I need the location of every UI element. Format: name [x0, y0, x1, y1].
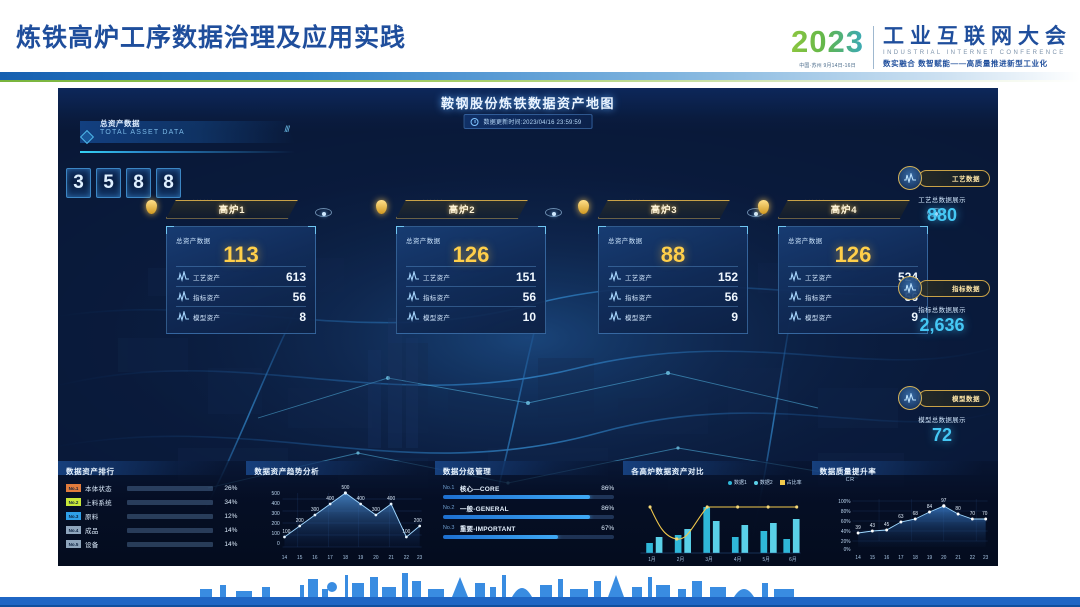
card-row: 指标资产 56	[608, 286, 738, 306]
wave-icon	[788, 271, 802, 282]
side-metric-badge-label: 指标数据	[952, 283, 980, 293]
card-row: 指标资产 56	[406, 286, 536, 306]
card-row-value: 56	[293, 290, 306, 304]
furnace-group-2[interactable]: ······ 高炉2 总资产数据 126 工艺资产 151 指标资产 56	[396, 198, 546, 334]
card-row-value: 10	[523, 310, 536, 324]
svg-text:18: 18	[343, 555, 349, 561]
panel-header: 数据资产排行	[66, 466, 237, 479]
update-stamp: 数据更新时间:2023/04/16 23:59:59	[464, 114, 593, 129]
panel-title: 数据分级管理	[443, 466, 614, 477]
side-metric-value: 880	[894, 205, 990, 226]
dots-decoration-icon: ······	[805, 197, 826, 203]
svg-text:80: 80	[955, 506, 961, 512]
rank-percent: 14%	[213, 527, 237, 534]
side-metric-caption: 指标总数据展示	[894, 304, 990, 314]
card-row: 模型资产 10	[406, 306, 536, 326]
furnace-group-1[interactable]: ······ 高炉1 总资产数据 113 工艺资产 613 指标资产 56	[166, 198, 316, 334]
quality-chart: 100%80%60% 40%20%0% 394345	[820, 481, 991, 565]
furnace-name-plate: ······ 高炉1	[166, 200, 298, 219]
logo-year: 2023	[791, 26, 864, 57]
svg-text:300: 300	[372, 507, 380, 513]
svg-text:21: 21	[955, 555, 961, 561]
svg-text:16: 16	[313, 555, 319, 561]
rank-row: No.3 原料 12%	[66, 509, 237, 523]
grade-row: No.2 一般-GENERAL 86%	[443, 503, 614, 513]
side-metric-pill: 模型数据	[918, 390, 990, 407]
furnace-group-3[interactable]: ······ 高炉3 总资产数据 88 工艺资产 152 指标资产 56	[598, 198, 748, 334]
rank-row: No.4 成品 14%	[66, 523, 237, 537]
grade-track	[443, 515, 614, 519]
svg-text:80%: 80%	[841, 509, 851, 515]
panel-grade-management: 数据分级管理 No.1 核心—CORE 86% No.2 一般-GENERAL …	[435, 461, 621, 566]
furnace-card-2: 总资产数据 126 工艺资产 151 指标资产 56 模型资产 10	[396, 226, 546, 334]
side-metric-badge: 工艺数据	[894, 166, 990, 190]
svg-text:200: 200	[414, 518, 422, 524]
svg-text:21: 21	[389, 555, 395, 561]
wave-icon	[608, 291, 622, 302]
page-title: 炼铁高炉工序数据治理及应用实践	[16, 18, 406, 54]
svg-text:100: 100	[403, 529, 411, 535]
grade-item: No.2 一般-GENERAL 86%	[443, 503, 614, 519]
grade-item: No.1 核心—CORE 86%	[443, 483, 614, 499]
counter-digit: 8	[126, 168, 151, 198]
rank-label: 本体状态	[85, 483, 127, 493]
svg-text:14: 14	[282, 555, 288, 561]
total-asset-header: 总资产数据 TOTAL ASSET DATA ///	[80, 118, 295, 146]
total-asset-counter: 3 5 8 8	[66, 168, 181, 198]
panel-title: 数据资产趋势分析	[254, 466, 425, 477]
card-row-label: 工艺资产	[423, 272, 450, 282]
wave-icon	[176, 291, 190, 302]
counter-digit: 5	[96, 168, 121, 198]
side-metric-model[interactable]: 模型数据 模型总数据展示 72	[894, 386, 990, 446]
grade-label: 重要-IMPORTANT	[460, 523, 516, 533]
diamond-icon	[80, 130, 94, 144]
update-stamp-text: 数据更新时间:2023/04/16 23:59:59	[484, 117, 582, 126]
side-metric-badge-label: 模型数据	[952, 393, 980, 403]
svg-text:20: 20	[374, 555, 380, 561]
furnace-name: 高炉1	[219, 202, 246, 216]
rank-percent: 12%	[213, 513, 237, 520]
side-metric-badge-label: 工艺数据	[952, 173, 980, 183]
svg-text:500: 500	[342, 485, 350, 491]
dots-decoration-icon: ······	[625, 197, 646, 203]
side-metric-caption: 工艺总数据展示	[894, 194, 990, 204]
rank-percent: 34%	[213, 499, 237, 506]
dashboard-title: 鞍钢股份炼铁数据资产地图	[58, 93, 998, 112]
logo-year-group: 2023 中国·苏州 9月14日-16日	[791, 26, 873, 69]
furnace-name: 高炉4	[831, 202, 858, 216]
furnace-tag-2[interactable]: ······ 高炉2	[396, 198, 546, 220]
card-row: 工艺资产 152	[608, 266, 738, 286]
panel-title: 数据资产排行	[66, 466, 237, 477]
comparison-chart: 1月2月3月 4月5月6月	[631, 481, 802, 565]
card-row-label: 模型资产	[625, 312, 652, 322]
grade-rank: No.2	[443, 505, 460, 511]
panel-trend-analysis: 数据资产趋势分析	[246, 461, 432, 566]
card-row: 模型资产 8	[176, 306, 306, 326]
svg-text:200: 200	[296, 518, 304, 524]
side-metric-caption: 模型总数据展示	[894, 414, 990, 424]
furnace-name-plate: ······ 高炉2	[396, 200, 528, 219]
card-row-value: 8	[299, 310, 306, 324]
card-total-value: 113	[176, 243, 306, 266]
card-row-label: 工艺资产	[805, 272, 832, 282]
side-metric-process[interactable]: 工艺数据 工艺总数据展示 880	[894, 166, 990, 226]
side-metric-badge: 指标数据	[894, 276, 990, 300]
grade-percent: 86%	[601, 505, 614, 512]
dots-decoration-icon: ······	[423, 197, 444, 203]
svg-text:0: 0	[277, 541, 280, 547]
panel-header: 数据分级管理	[443, 466, 614, 479]
svg-text:400: 400	[272, 501, 280, 507]
slide-root: 炼铁高炉工序数据治理及应用实践 2023 中国·苏州 9月14日-16日 工业互…	[0, 0, 1080, 607]
counter-digit: 3	[66, 168, 91, 198]
wave-circle-icon	[898, 386, 922, 410]
grade-rank: No.1	[443, 485, 460, 491]
side-metric-pill: 工艺数据	[918, 170, 990, 187]
total-asset-label-cn: 总资产数据	[100, 118, 140, 129]
grade-row: No.3 重要-IMPORTANT 67%	[443, 523, 614, 533]
svg-text:500: 500	[272, 491, 280, 497]
rank-row: No.5 设备 14%	[66, 537, 237, 551]
comparison-chart-svg: 1月2月3月 4月5月6月	[631, 481, 802, 565]
grade-fill	[443, 495, 590, 499]
svg-text:63: 63	[898, 514, 904, 520]
furnace-tag-1[interactable]: ······ 高炉1	[166, 198, 316, 220]
svg-text:23: 23	[983, 555, 989, 561]
card-row-label: 指标资产	[805, 292, 832, 302]
furnace-name-plate: ······ 高炉3	[598, 200, 730, 219]
furnace-name: 高炉2	[449, 202, 476, 216]
grade-fill	[443, 535, 558, 539]
svg-text:40%: 40%	[841, 529, 851, 535]
wave-icon	[608, 271, 622, 282]
furnace-tag-3[interactable]: ······ 高炉3	[598, 198, 748, 220]
svg-text:60%: 60%	[841, 519, 851, 525]
rank-track	[127, 528, 213, 533]
total-asset-banner: 总资产数据 TOTAL ASSET DATA ///	[80, 118, 295, 146]
rank-track	[127, 486, 213, 491]
panel-quality-improvement: 数据质量提升率 CR	[812, 461, 998, 566]
card-row-label: 指标资产	[625, 292, 652, 302]
card-total-value: 126	[788, 243, 918, 266]
wave-icon	[406, 311, 420, 322]
svg-text:16: 16	[884, 555, 890, 561]
svg-text:400: 400	[357, 496, 365, 502]
trend-chart: 500400300 2001000 100200300	[254, 481, 425, 565]
wave-circle-icon	[898, 276, 922, 300]
city-skyline-decoration	[0, 563, 1080, 607]
grade-percent: 67%	[601, 525, 614, 532]
rank-row: No.2 上料系统 34%	[66, 495, 237, 509]
svg-text:39: 39	[855, 525, 861, 531]
pulse-ring-icon	[545, 208, 562, 217]
svg-text:200: 200	[272, 521, 280, 527]
header-rule-green	[0, 80, 1080, 82]
slash-decoration-icon: ///	[284, 124, 289, 134]
panel-asset-ranking: 数据资产排行 No.1 本体状态 26% No.2 上料系统 34% No.3 …	[58, 461, 244, 566]
total-asset-underline	[80, 151, 295, 153]
svg-text:19: 19	[358, 555, 364, 561]
card-row-label: 指标资产	[193, 292, 220, 302]
card-row: 工艺资产 613	[176, 266, 306, 286]
logo-divider	[873, 26, 874, 69]
rank-badge: No.2	[66, 498, 81, 506]
svg-text:14: 14	[855, 555, 861, 561]
grade-track	[443, 495, 614, 499]
wave-icon	[406, 291, 420, 302]
conference-logo: 2023 中国·苏州 9月14日-16日 工业互联网大会 INDUSTRIAL …	[791, 26, 1072, 69]
side-metric-badge: 模型数据	[894, 386, 990, 410]
card-row-value: 152	[718, 270, 738, 284]
svg-text:0%: 0%	[843, 547, 851, 553]
furnace-name: 高炉3	[651, 202, 678, 216]
svg-text:17: 17	[328, 555, 334, 561]
side-metric-indicator[interactable]: 指标数据 指标总数据展示 2,636	[894, 276, 990, 336]
svg-text:300: 300	[311, 507, 319, 513]
rank-label: 原料	[85, 511, 127, 521]
card-row-value: 613	[286, 270, 306, 284]
header-rule-blue	[0, 72, 1080, 80]
grade-fill	[443, 515, 590, 519]
grade-item: No.3 重要-IMPORTANT 67%	[443, 523, 614, 539]
logo-slogan: 数实融合 数智赋能——高质量推进新型工业化	[883, 58, 1072, 69]
total-asset-label-en: TOTAL ASSET DATA	[100, 129, 185, 136]
card-row-value: 151	[516, 270, 536, 284]
rank-percent: 14%	[213, 541, 237, 548]
quality-chart-svg: 100%80%60% 40%20%0% 394345	[820, 481, 991, 565]
grade-label: 核心—CORE	[460, 483, 500, 493]
svg-text:18: 18	[912, 555, 918, 561]
refresh-icon[interactable]	[471, 118, 479, 126]
side-metric-pill: 指标数据	[918, 280, 990, 297]
svg-text:300: 300	[272, 511, 280, 517]
card-row-value: 9	[731, 310, 738, 324]
card-row-value: 56	[523, 290, 536, 304]
bottom-panel-row: 数据资产排行 No.1 本体状态 26% No.2 上料系统 34% No.3 …	[58, 461, 998, 566]
wave-icon	[788, 291, 802, 302]
svg-text:20: 20	[941, 555, 947, 561]
svg-text:19: 19	[926, 555, 932, 561]
panel-header: 数据资产趋势分析	[254, 466, 425, 479]
grade-track	[443, 535, 614, 539]
svg-text:15: 15	[297, 555, 303, 561]
svg-text:68: 68	[912, 511, 918, 517]
svg-text:70: 70	[982, 511, 988, 517]
logo-name-en: INDUSTRIAL INTERNET CONFERENCE	[883, 50, 1072, 56]
svg-text:100: 100	[272, 531, 280, 537]
wave-icon	[788, 311, 802, 322]
svg-text:15: 15	[869, 555, 875, 561]
logo-year-subtitle: 中国·苏州 9月14日-16日	[799, 62, 856, 69]
grade-rank: No.3	[443, 525, 460, 531]
panel-title: 数据质量提升率	[820, 466, 991, 477]
rank-track	[127, 542, 213, 547]
svg-text:100%: 100%	[838, 499, 851, 505]
rank-track	[127, 514, 213, 519]
svg-text:22: 22	[969, 555, 975, 561]
furnace-name-plate: ······ 高炉4	[778, 200, 910, 219]
card-row: 工艺资产 151	[406, 266, 536, 286]
side-metric-value: 2,636	[894, 315, 990, 336]
panel-header: 各高炉数据资产对比	[631, 466, 802, 479]
grade-percent: 86%	[601, 485, 614, 492]
card-row-value: 56	[725, 290, 738, 304]
svg-text:43: 43	[869, 523, 875, 529]
rank-percent: 26%	[213, 485, 237, 492]
header-rule	[0, 72, 1080, 84]
svg-text:400: 400	[327, 496, 335, 502]
svg-text:45: 45	[884, 522, 890, 528]
furnace-card-1: 总资产数据 113 工艺资产 613 指标资产 56 模型资产 8	[166, 226, 316, 334]
card-row-label: 模型资产	[805, 312, 832, 322]
card-row-label: 指标资产	[423, 292, 450, 302]
svg-text:100: 100	[283, 529, 291, 535]
card-total-value: 126	[406, 243, 536, 266]
rank-badge: No.5	[66, 540, 81, 548]
panel-title: 各高炉数据资产对比	[631, 466, 802, 477]
pulse-ring-icon	[315, 208, 332, 217]
card-total-value: 88	[608, 243, 738, 266]
wave-icon	[176, 311, 190, 322]
card-row-label: 工艺资产	[193, 272, 220, 282]
side-metric-value: 72	[894, 425, 990, 446]
trend-chart-svg: 500400300 2001000 100200300	[254, 481, 425, 565]
svg-text:17: 17	[898, 555, 904, 561]
rank-track	[127, 500, 213, 505]
svg-text:70: 70	[969, 511, 975, 517]
rank-badge: No.4	[66, 526, 81, 534]
card-row-label: 模型资产	[423, 312, 450, 322]
rank-badge: No.3	[66, 512, 81, 520]
svg-text:22: 22	[404, 555, 410, 561]
rank-badge: No.1	[66, 484, 81, 492]
logo-text-group: 工业互联网大会 INDUSTRIAL INTERNET CONFERENCE 数…	[883, 26, 1072, 69]
rank-row: No.1 本体状态 26%	[66, 481, 237, 495]
wave-icon	[176, 271, 190, 282]
card-row-label: 工艺资产	[625, 272, 652, 282]
grade-label: 一般-GENERAL	[460, 503, 509, 513]
svg-text:97: 97	[941, 498, 947, 504]
furnace-card-3: 总资产数据 88 工艺资产 152 指标资产 56 模型资产 9	[598, 226, 748, 334]
svg-text:84: 84	[926, 504, 932, 510]
rank-label: 上料系统	[85, 497, 127, 507]
rank-label: 设备	[85, 539, 127, 549]
logo-name-cn: 工业互联网大会	[883, 26, 1072, 48]
grade-row: No.1 核心—CORE 86%	[443, 483, 614, 493]
svg-text:400: 400	[388, 496, 396, 502]
dashboard: 鞍钢股份炼铁数据资产地图 数据更新时间:2023/04/16 23:59:59 …	[58, 88, 998, 566]
card-row: 指标资产 56	[176, 286, 306, 306]
rank-label: 成品	[85, 525, 127, 535]
counter-digit: 8	[156, 168, 181, 198]
wave-icon	[406, 271, 420, 282]
dots-decoration-icon: ······	[193, 197, 214, 203]
card-row: 模型资产 9	[608, 306, 738, 326]
wave-circle-icon	[898, 166, 922, 190]
card-row-label: 模型资产	[193, 312, 220, 322]
svg-text:23: 23	[417, 555, 423, 561]
panel-furnace-comparison: 各高炉数据资产对比 数据1 数据2 占比率	[623, 461, 809, 566]
wave-icon	[608, 311, 622, 322]
svg-text:20%: 20%	[841, 539, 851, 545]
